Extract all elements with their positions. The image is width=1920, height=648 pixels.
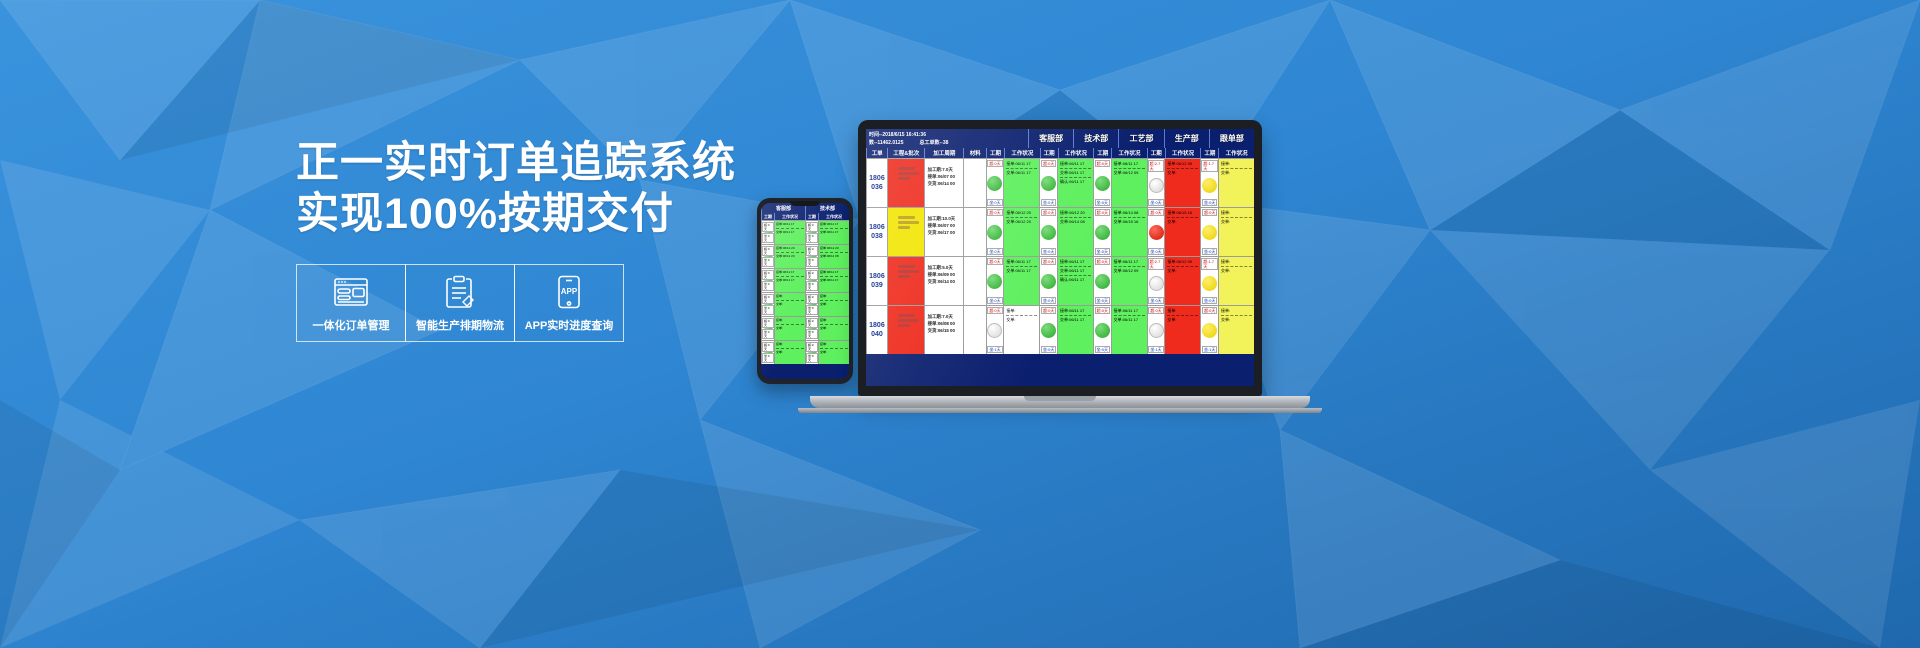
cell-status: 接单:06/15 16交单:: [1164, 208, 1200, 256]
cell-status: 接单:06/12 09交单:: [1164, 257, 1200, 305]
cell-status: 接单:06/11 17交单:06/11 17: [1003, 257, 1039, 305]
status-dot-green: [1041, 225, 1056, 240]
dashboard-meta: 时间--2018/6/15 16:41:36 数--11462.0125 总工单…: [866, 129, 1028, 148]
feature-list: 一体化订单管理 智能生产排期物流: [296, 264, 716, 342]
phone-tag-over: 超:0天: [806, 222, 818, 232]
phone-cell-duration: 超:0天坐:0天: [761, 269, 774, 292]
phone-table-body: 超:0天坐:0天接单:06/11 17交单:06/11 17超:0天坐:0天接单…: [761, 220, 849, 364]
phone-cell-duration: 超:0天坐:0天: [761, 221, 774, 244]
table-row[interactable]: 1806036加工期:7.0天接单:06/07 00交货:06/14 00超:0…: [866, 158, 1254, 207]
laptop-base: [810, 396, 1310, 408]
phone-cell-duration: 超:0天坐:0天: [761, 341, 774, 364]
tag-wait: 坐:0天: [987, 199, 1002, 206]
phone-cell-status: 接单:06/11 17交单:06/11 17: [774, 221, 805, 244]
status-dot-white: [987, 323, 1002, 338]
tag-over: 超:0天: [1148, 307, 1163, 314]
tag-over: 超:0天: [987, 258, 1002, 265]
cell-material: [963, 257, 985, 305]
tag-wait: 坐:0天: [1202, 297, 1217, 304]
cell-duration: 超:0天坐:0天: [986, 159, 1004, 207]
cell-project: [887, 306, 924, 354]
phone-screen[interactable]: 客服部 技术部 工期 工作状况 工期 工作状况 超:0天坐:0天接单:06/11…: [761, 203, 849, 379]
svg-text:APP: APP: [561, 287, 578, 296]
tag-over: 超:0天: [1095, 160, 1110, 167]
cell-project: [887, 208, 924, 256]
tag-over: 超:2.7天: [1148, 258, 1165, 270]
headline-line-2: 实现100%按期交付: [296, 189, 716, 240]
tag-wait: 坐:0天: [987, 297, 1002, 304]
tag-wait: 坐:0天: [1202, 248, 1217, 255]
cell-duration: 超:0天坐:0天: [1039, 257, 1057, 305]
cell-status: 接单:06/11 17交单:06/11 17: [1111, 306, 1147, 354]
feature-label: APP实时进度查询: [525, 317, 614, 333]
feature-label: 一体化订单管理: [313, 317, 390, 333]
phone-tag-wait: 坐:0天: [806, 329, 818, 339]
phone-tag-over: 超:0天: [806, 270, 818, 280]
phone-cell-duration: 超:0天坐:0天: [805, 317, 818, 340]
status-dot-red: [1149, 225, 1164, 240]
cell-status: 接单:06/12 09交单:: [1164, 159, 1200, 207]
tag-over: 超:1.7天: [1201, 160, 1218, 172]
col-duration-gongyi: 工期: [1093, 148, 1111, 158]
cell-status: 接单:06/11 17交单:06/11 17: [1003, 159, 1039, 207]
phone-tag-over: 超:0天: [806, 342, 818, 352]
status-dot-green: [1095, 225, 1110, 240]
phone-tag-over: 超:0天: [806, 318, 818, 328]
col-status-jishu: 工作状况: [1058, 148, 1094, 158]
tag-wait: 坐:0天: [1095, 346, 1110, 353]
phone-cell-duration: 超:0天坐:0天: [761, 245, 774, 268]
phone-table-row[interactable]: 超:0天坐:0天接单:06/12 20交单:06/12 20超:0天坐:0天接单…: [761, 244, 849, 268]
tag-wait: 坐:0天: [1095, 297, 1110, 304]
tag-over: 超:0天: [1041, 307, 1056, 314]
tag-over: 超:0天: [987, 307, 1002, 314]
status-dot-green: [1041, 176, 1056, 191]
col-duration-gendan: 工期: [1200, 148, 1218, 158]
phone-cell-status: 接单:交单:: [774, 293, 805, 316]
tag-wait: 坐:1天: [1148, 346, 1163, 353]
status-dot-green: [987, 274, 1002, 289]
cell-status: 接单:06/11 17交单:06/11 17确认:06/11 17: [1057, 257, 1093, 305]
table-row[interactable]: 1806039加工期:5.0天接单:06/09 00交货:06/14 00超:0…: [866, 256, 1254, 305]
tag-wait: 坐:0天: [1095, 199, 1110, 206]
cell-duration: 超:0天坐:0天: [1093, 306, 1111, 354]
phone-table-row[interactable]: 超:0天坐:0天接单:交单:超:0天坐:0天接单:交单:: [761, 292, 849, 316]
col-duration-shengchan: 工期: [1147, 148, 1165, 158]
tag-wait: 坐:0天: [1095, 248, 1110, 255]
tag-over: 超:0天: [1095, 258, 1110, 265]
order-management-icon: [333, 273, 369, 311]
col-status-kefu: 工作状况: [1004, 148, 1040, 158]
cell-duration: 超:2.7天坐:0天: [1147, 257, 1165, 305]
cell-status: 接单:交单:: [1218, 159, 1254, 207]
cell-project: [887, 159, 924, 207]
cell-status: 接单:交单:: [1218, 257, 1254, 305]
phone-tag-wait: 坐:0天: [762, 329, 774, 339]
phone-tag-over: 超:0天: [762, 342, 774, 352]
status-dot-white: [1149, 178, 1164, 193]
mobile-app-icon: APP: [557, 273, 581, 311]
hero-copy: 正一实时订单追踪系统 实现100%按期交付: [296, 138, 716, 342]
cell-duration: 超:0天坐:0天: [1093, 208, 1111, 256]
cell-duration: 超:0天坐:0天: [1093, 257, 1111, 305]
phone-table-row[interactable]: 超:0天坐:0天接单:交单:超:0天坐:0天接单:交单:: [761, 316, 849, 340]
dept-shengchan: 生产部: [1164, 129, 1209, 148]
tag-over: 超:2.7天: [1148, 160, 1165, 172]
cell-duration: 超:0天坐:0天: [986, 208, 1004, 256]
headline-line-1: 正一实时订单追踪系统: [296, 138, 716, 189]
col-cycle: 加工周期: [924, 148, 963, 158]
tag-wait: 坐:0天: [1148, 199, 1163, 206]
tag-wait: 坐:0天: [1148, 297, 1163, 304]
cell-duration: 超:0天坐:1天: [986, 306, 1004, 354]
feature-app-tracking[interactable]: APP APP实时进度查询: [514, 264, 624, 342]
phone-cell-status: 接单:06/12 20交单:06/14 08: [818, 245, 849, 268]
col-status-shengchan: 工作状况: [1165, 148, 1201, 158]
tag-wait: 坐:0天: [1148, 248, 1163, 255]
cell-duration: 超:0天坐:0天: [1039, 306, 1057, 354]
phone-tag-wait: 坐:0天: [806, 281, 818, 291]
cell-material: [963, 159, 985, 207]
col-status-gongyi: 工作状况: [1111, 148, 1147, 158]
phone-tag-wait: 坐:0天: [806, 233, 818, 243]
laptop-lid: 时间--2018/6/15 16:41:36 数--11462.0125 总工单…: [858, 120, 1262, 396]
cell-cycle: 加工期:5.0天接单:06/09 00交货:06/14 00: [924, 257, 964, 305]
phone-cell-duration: 超:0天坐:0天: [761, 317, 774, 340]
meta-time: 时间--2018/6/15 16:41:36: [869, 131, 1025, 139]
dept-gendan: 跟单部: [1209, 129, 1254, 148]
phone-cell-duration: 超:0天坐:0天: [805, 341, 818, 364]
dept-gongyi: 工艺部: [1118, 129, 1163, 148]
cell-material: [963, 306, 985, 354]
tag-over: 超:1.7天: [1201, 258, 1218, 270]
phone-table-row[interactable]: 超:0天坐:0天接单:06/11 17交单:06/11 17超:0天坐:0天接单…: [761, 268, 849, 292]
meta-total: 总工单数--38: [919, 139, 948, 147]
phone-tag-wait: 坐:0天: [762, 233, 774, 243]
phone-col-status-1: 工作状况: [774, 213, 805, 220]
cell-material: [963, 208, 985, 256]
cell-duration: 超:0天坐:0天: [1039, 159, 1057, 207]
tag-over: 超:0天: [1148, 209, 1163, 216]
feature-smart-scheduling[interactable]: 智能生产排期物流: [405, 264, 515, 342]
status-dot-green: [987, 225, 1002, 240]
cell-status: 接单:06/12 20交单:06/14 08: [1057, 208, 1093, 256]
dashboard-header: 时间--2018/6/15 16:41:36 数--11462.0125 总工单…: [866, 129, 1254, 148]
phone-tag-over: 超:0天: [762, 318, 774, 328]
cell-duration: 超:2.7天坐:0天: [1147, 159, 1165, 207]
phone-cell-status: 接单:交单:: [818, 293, 849, 316]
status-dot-white: [1149, 276, 1164, 291]
status-dot-green: [1041, 274, 1056, 289]
phone-tag-wait: 坐:0天: [806, 305, 818, 315]
cell-duration: 超:0天坐:0天: [1039, 208, 1057, 256]
tag-over: 超:0天: [1202, 307, 1217, 314]
phone-tag-wait: 坐:0天: [762, 353, 774, 363]
table-row[interactable]: 1806038加工期:10.0天接单:06/07 00交货:06/17 00超:…: [866, 207, 1254, 256]
phone-notch: [790, 201, 820, 206]
phone-col-duration-1: 工期: [761, 213, 774, 220]
phone-cell-duration: 超:0天坐:0天: [805, 221, 818, 244]
col-status-gendan: 工作状况: [1218, 148, 1254, 158]
laptop-foot: [798, 408, 1322, 413]
phone-cell-status: 接单:06/11 17交单:06/11 17: [818, 269, 849, 292]
tag-wait: 坐:0天: [1202, 199, 1217, 206]
cell-duration: 超:1.7天坐:0天: [1200, 159, 1218, 207]
cell-order-no: 1806036: [866, 159, 887, 207]
tag-wait: 坐:0天: [987, 248, 1002, 255]
phone-tag-over: 超:0天: [762, 270, 774, 280]
dashboard-column-header: 工单 工程&批次 加工周期 材料 工期 工作状况 工期 工作状况 工期 工作状况…: [866, 148, 1254, 158]
cell-status: 接单:06/11 17交单:06/12 09: [1111, 159, 1147, 207]
laptop-screen[interactable]: 时间--2018/6/15 16:41:36 数--11462.0125 总工单…: [866, 129, 1254, 386]
col-order-no: 工单: [866, 148, 887, 158]
tag-wait: 坐:1天: [1202, 346, 1217, 353]
tag-over: 超:0天: [1095, 307, 1110, 314]
phone-tag-wait: 坐:0天: [762, 257, 774, 267]
cell-project: [887, 257, 924, 305]
phone-cell-status: 接单:06/11 17交单:06/11 17: [774, 269, 805, 292]
tag-over: 超:0天: [1041, 258, 1056, 265]
phone-col-status-2: 工作状况: [818, 213, 849, 220]
cell-duration: 超:0天坐:0天: [1200, 208, 1218, 256]
col-duration-jishu: 工期: [1040, 148, 1058, 158]
tag-wait: 坐:0天: [1041, 297, 1056, 304]
status-dot-yellow: [1202, 225, 1217, 240]
cell-status: 接单:06/12 20交单:06/12 20: [1003, 208, 1039, 256]
phone-cell-status: 接单:交单:: [774, 317, 805, 340]
meta-count: 数--11462.0125: [869, 139, 903, 147]
phone-tag-over: 超:0天: [806, 246, 818, 256]
status-dot-green: [1095, 323, 1110, 338]
col-duration-kefu: 工期: [986, 148, 1004, 158]
phone-tag-over: 超:0天: [806, 294, 818, 304]
phone-tag-wait: 坐:0天: [762, 305, 774, 315]
cell-status: 接单:交单:: [1218, 208, 1254, 256]
status-dot-yellow: [1202, 178, 1217, 193]
feature-label: 智能生产排期物流: [416, 317, 504, 333]
status-dot-green: [987, 176, 1002, 191]
cell-duration: 超:0天坐:1天: [1200, 306, 1218, 354]
cell-duration: 超:0天坐:0天: [1147, 208, 1165, 256]
dept-kefu: 客服部: [1028, 129, 1073, 148]
tag-wait: 坐:0天: [1041, 199, 1056, 206]
phone-tag-over: 超:0天: [762, 294, 774, 304]
status-dot-yellow: [1202, 323, 1217, 338]
phone-cell-duration: 超:0天坐:0天: [805, 293, 818, 316]
tag-wait: 坐:0天: [1041, 346, 1056, 353]
phone-tag-wait: 坐:0天: [806, 353, 818, 363]
cell-cycle: 加工期:7.0天接单:06/07 00交货:06/14 00: [924, 159, 964, 207]
tag-wait: 坐:1天: [987, 346, 1002, 353]
phone-tag-over: 超:0天: [762, 246, 774, 256]
clipboard-schedule-icon: [445, 273, 475, 311]
cell-status: 接单:06/11 17交单:06/12 09: [1111, 257, 1147, 305]
phone-col-duration-2: 工期: [805, 213, 818, 220]
phone-cell-duration: 超:0天坐:0天: [805, 269, 818, 292]
phone-tag-wait: 坐:0天: [806, 257, 818, 267]
cell-order-no: 1806038: [866, 208, 887, 256]
tag-over: 超:0天: [987, 209, 1002, 216]
laptop-mockup: 时间--2018/6/15 16:41:36 数--11462.0125 总工单…: [858, 120, 1322, 413]
tag-over: 超:0天: [987, 160, 1002, 167]
phone-tag-over: 超:0天: [762, 222, 774, 232]
tag-over: 超:0天: [1202, 209, 1217, 216]
cell-cycle: 加工期:10.0天接单:06/07 00交货:06/17 00: [924, 208, 964, 256]
cell-duration: 超:0天坐:0天: [986, 257, 1004, 305]
cell-status: 接单:06/11 17交单:06/11 17: [1057, 306, 1093, 354]
phone-mockup: 客服部 技术部 工期 工作状况 工期 工作状况 超:0天坐:0天接单:06/11…: [757, 198, 853, 384]
cell-duration: 超:1.7天坐:0天: [1200, 257, 1218, 305]
dashboard-table-body: 1806036加工期:7.0天接单:06/07 00交货:06/14 00超:0…: [866, 158, 1254, 354]
status-dot-green: [1095, 274, 1110, 289]
phone-cell-status: 接单:交单:: [818, 317, 849, 340]
phone-cell-status: 接单:06/11 17交单:06/11 17: [818, 221, 849, 244]
col-project: 工程&批次: [887, 148, 924, 158]
cell-status: 接单:06/14 08交单:06/15 16: [1111, 208, 1147, 256]
hero-banner: 正一实时订单追踪系统 实现100%按期交付: [0, 0, 1920, 648]
cell-status: 接单:交单:: [1218, 306, 1254, 354]
cell-duration: 超:0天坐:0天: [1093, 159, 1111, 207]
tag-wait: 坐:0天: [1041, 248, 1056, 255]
cell-cycle: 加工期:7.0天接单:06/08 00交货:06/15 00: [924, 306, 964, 354]
phone-cell-status: 接单:交单:: [774, 341, 805, 364]
cell-status: 接单:交单:: [1164, 306, 1200, 354]
tag-over: 超:0天: [1041, 160, 1056, 167]
tag-over: 超:0天: [1041, 209, 1056, 216]
col-material: 材料: [963, 148, 986, 158]
dept-jishu: 技术部: [1073, 129, 1118, 148]
feature-order-management[interactable]: 一体化订单管理: [296, 264, 406, 342]
phone-column-header: 工期 工作状况 工期 工作状况: [761, 213, 849, 220]
status-dot-green: [1095, 176, 1110, 191]
cell-duration: 超:0天坐:1天: [1147, 306, 1165, 354]
phone-cell-status: 接单:交单:: [818, 341, 849, 364]
status-dot-yellow: [1202, 276, 1217, 291]
phone-tag-wait: 坐:0天: [762, 281, 774, 291]
phone-table-row[interactable]: 超:0天坐:0天接单:交单:超:0天坐:0天接单:交单:: [761, 340, 849, 364]
cell-status: 接单:交单:: [1003, 306, 1039, 354]
tag-over: 超:0天: [1095, 209, 1110, 216]
phone-table-row[interactable]: 超:0天坐:0天接单:06/11 17交单:06/11 17超:0天坐:0天接单…: [761, 220, 849, 244]
phone-cell-duration: 超:0天坐:0天: [761, 293, 774, 316]
phone-cell-status: 接单:06/12 20交单:06/12 20: [774, 245, 805, 268]
status-dot-green: [1041, 323, 1056, 338]
cell-status: 接单:06/11 17交单:06/11 17确认:06/11 17: [1057, 159, 1093, 207]
status-dot-white: [1149, 323, 1164, 338]
phone-cell-duration: 超:0天坐:0天: [805, 245, 818, 268]
table-row[interactable]: 1806040加工期:7.0天接单:06/08 00交货:06/15 00超:0…: [866, 305, 1254, 354]
cell-order-no: 1806039: [866, 257, 887, 305]
cell-order-no: 1806040: [866, 306, 887, 354]
